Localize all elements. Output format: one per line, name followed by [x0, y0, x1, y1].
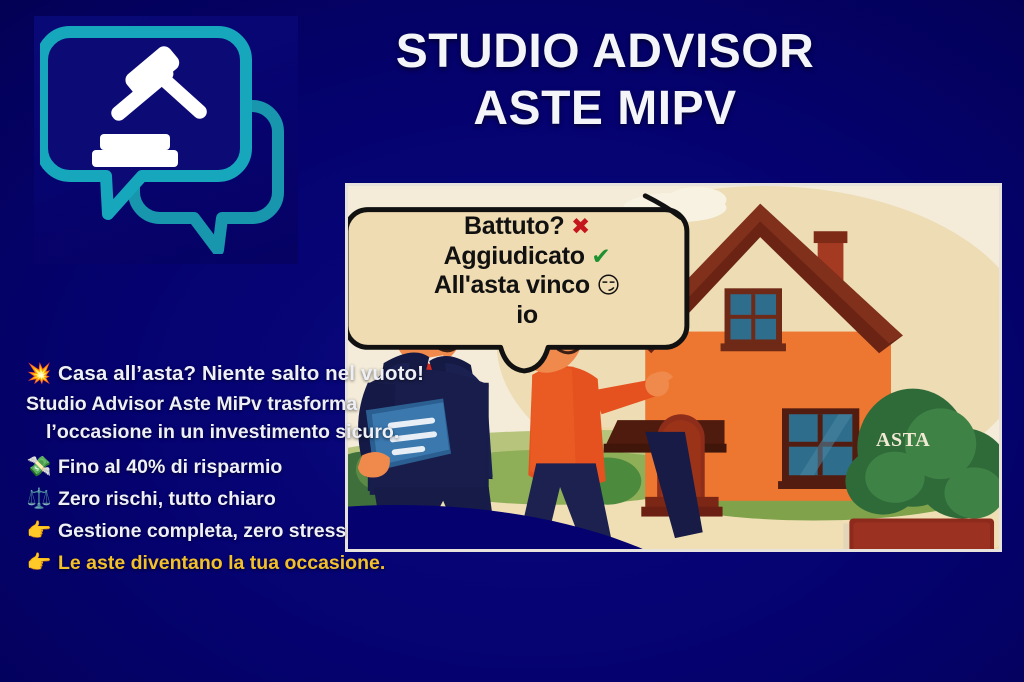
balance-scale-icon: ⚖️ — [24, 488, 54, 508]
copy-headline: 💥 Casa all’asta? Niente salto nel vuoto! — [24, 362, 524, 386]
copy-paragraph: Studio Advisor Aste MiPv trasforma l’occ… — [24, 391, 524, 446]
money-with-wings-icon: 💸 — [24, 456, 54, 476]
gavel-chat-bubble-icon — [40, 24, 290, 254]
marketing-copy: 💥 Casa all’asta? Niente salto nel vuoto!… — [24, 362, 524, 584]
copy-paragraph-line-2: l’occasione in un investimento sicuro. — [26, 419, 524, 447]
list-item-label: Le aste diventano la tua occasione. — [58, 552, 385, 575]
list-item: 💸 Fino al 40% di risparmio — [24, 456, 524, 479]
collision-icon: 💥 — [24, 363, 54, 383]
pointing-right-hand-icon: 👉 — [24, 552, 54, 572]
list-item-label: Fino al 40% di risparmio — [58, 456, 282, 479]
list-item: 👉 Gestione completa, zero stress — [24, 520, 524, 543]
list-item: ⚖️ Zero rischi, tutto chiaro — [24, 488, 524, 511]
copy-paragraph-line-1: Studio Advisor Aste MiPv trasforma — [26, 393, 357, 415]
list-item-label: Gestione completa, zero stress — [58, 520, 346, 543]
list-item-label: Zero rischi, tutto chiaro — [58, 488, 276, 511]
title-line-2: ASTE MIPV — [310, 81, 900, 138]
poster-canvas: STUDIO ADVISOR ASTE MIPV — [0, 0, 1024, 682]
copy-headline-text: Casa all’asta? Niente salto nel vuoto! — [58, 362, 424, 386]
yard-sign-label: ASTA — [876, 429, 930, 452]
title-line-1: STUDIO ADVISOR — [396, 25, 815, 78]
pointing-right-hand-icon: 👉 — [24, 520, 54, 540]
page-title: STUDIO ADVISOR ASTE MIPV — [310, 24, 900, 137]
list-item: 👉 Le aste diventano la tua occasione. — [24, 552, 524, 575]
